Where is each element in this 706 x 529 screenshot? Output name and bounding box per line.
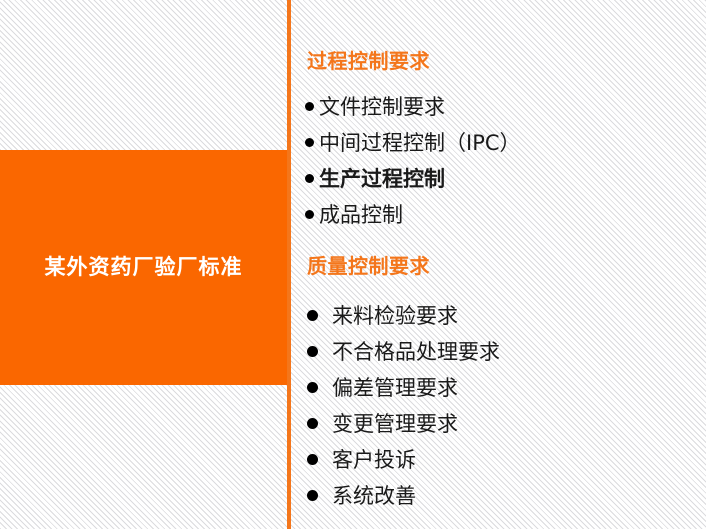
list-item-label: 中间过程控制（IPC） — [319, 127, 521, 157]
list-item: 变更管理要求 — [307, 405, 500, 441]
bullet-dot-icon — [305, 138, 314, 147]
bullet-dot-icon — [307, 382, 318, 393]
title-block: 某外资药厂验厂标准 — [0, 150, 287, 385]
list-item-label: 不合格品处理要求 — [332, 336, 500, 366]
list-item-label: 生产过程控制 — [319, 163, 445, 193]
bullet-dot-icon — [307, 454, 318, 465]
list-item: 不合格品处理要求 — [307, 333, 500, 369]
list-item: 文件控制要求 — [305, 88, 521, 124]
bullet-dot-icon — [307, 310, 318, 321]
list-item-label: 来料检验要求 — [332, 300, 458, 330]
list-item: 生产过程控制 — [305, 160, 521, 196]
list-item: 成品控制 — [305, 196, 521, 232]
bullet-dot-icon — [307, 346, 318, 357]
section-heading-quality-control: 质量控制要求 — [307, 250, 430, 279]
list-item: 客户投诉 — [307, 441, 500, 477]
bullet-dot-icon — [307, 418, 318, 429]
bullet-dot-icon — [305, 210, 314, 219]
bullet-dot-icon — [307, 490, 318, 501]
list-item-label: 文件控制要求 — [319, 91, 445, 121]
list-item-label: 成品控制 — [319, 199, 403, 229]
list-item: 中间过程控制（IPC） — [305, 124, 521, 160]
slide-canvas: 某外资药厂验厂标准 过程控制要求 文件控制要求 中间过程控制（IPC） 生产过程… — [0, 0, 706, 529]
content-column: 过程控制要求 文件控制要求 中间过程控制（IPC） 生产过程控制 成品控制 质量… — [291, 0, 706, 529]
process-control-list: 文件控制要求 中间过程控制（IPC） 生产过程控制 成品控制 — [305, 88, 521, 232]
list-item: 系统改善 — [307, 477, 500, 513]
list-item-label: 系统改善 — [332, 480, 416, 510]
list-item: 来料检验要求 — [307, 297, 500, 333]
section-heading-process-control: 过程控制要求 — [307, 45, 430, 74]
list-item: 偏差管理要求 — [307, 369, 500, 405]
page-title: 某外资药厂验厂标准 — [45, 255, 243, 280]
list-item-label: 偏差管理要求 — [332, 372, 458, 402]
quality-control-list: 来料检验要求 不合格品处理要求 偏差管理要求 变更管理要求 客户投诉 系统改善 — [307, 297, 500, 513]
list-item-label: 变更管理要求 — [332, 408, 458, 438]
list-item-label: 客户投诉 — [332, 444, 416, 474]
bullet-dot-icon — [305, 174, 314, 183]
bullet-dot-icon — [305, 102, 314, 111]
